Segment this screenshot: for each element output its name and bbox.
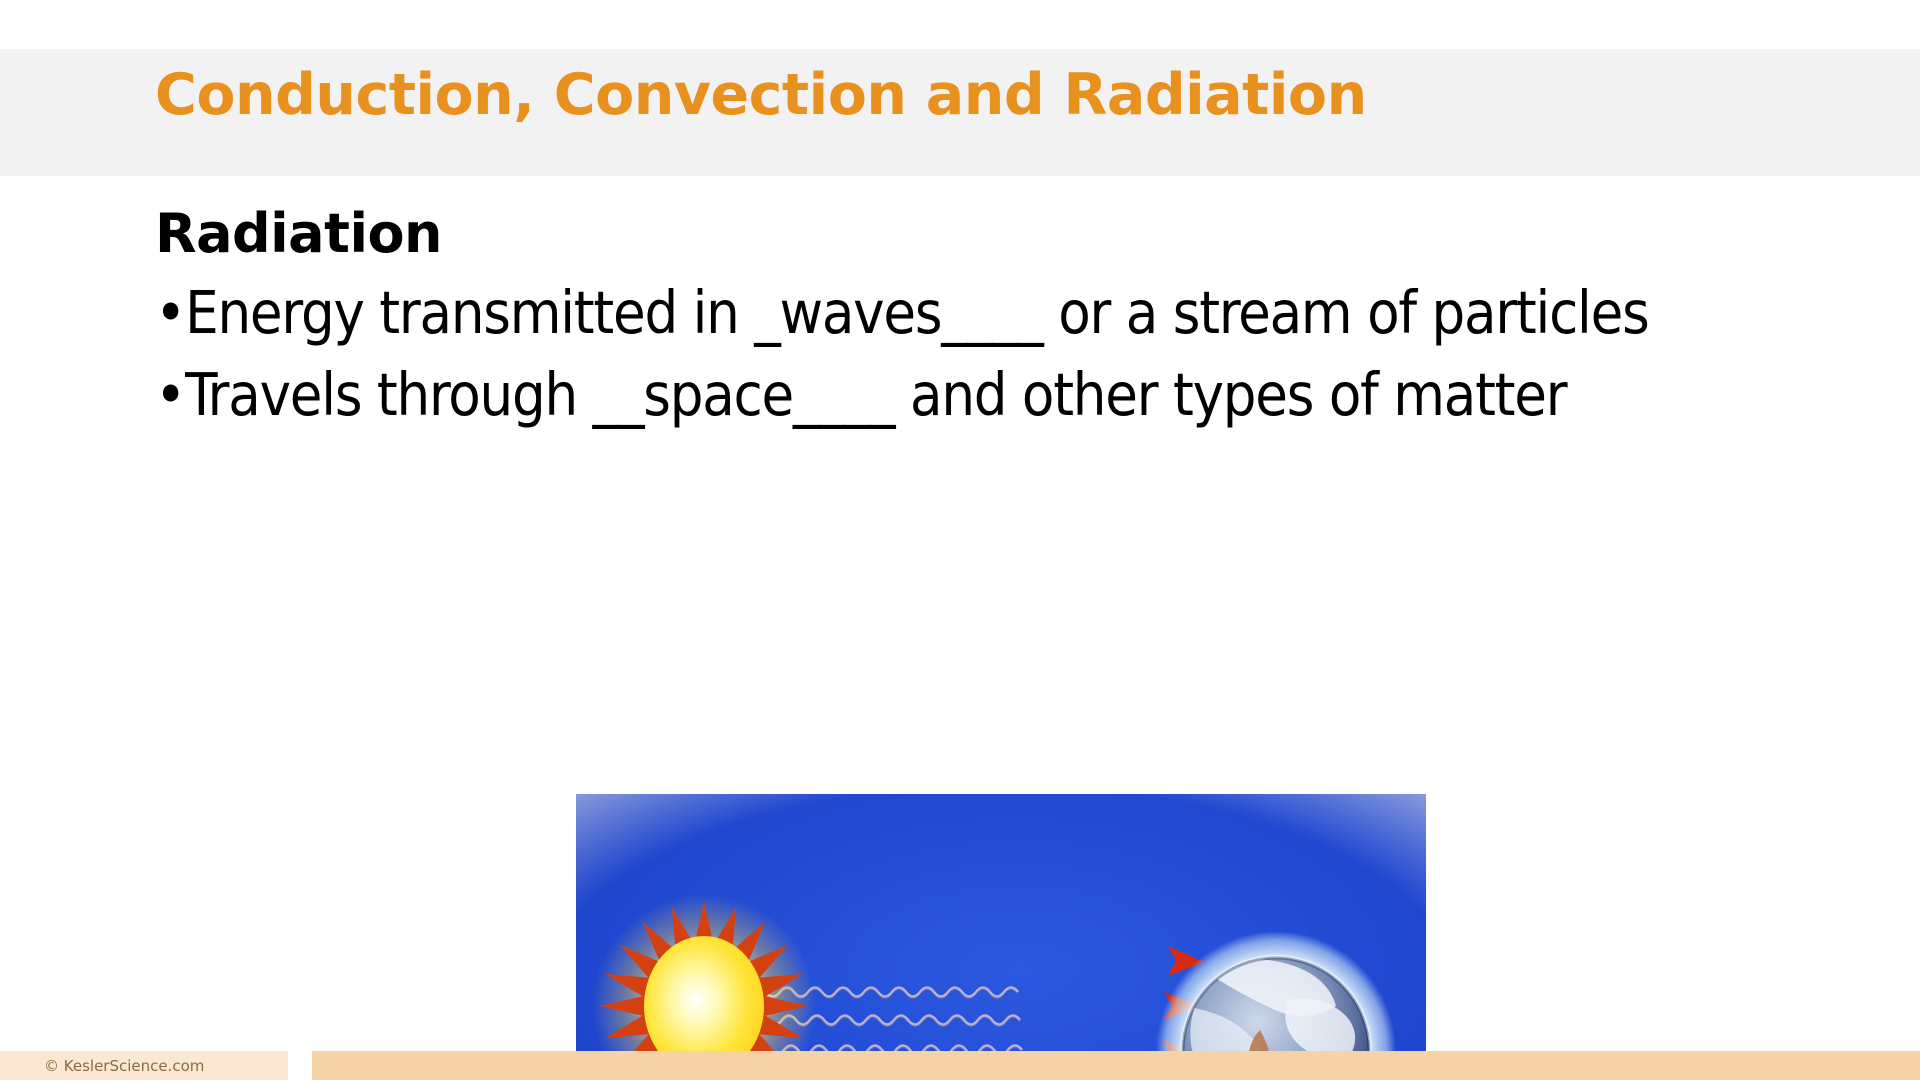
section-heading-radiation: Radiation [155, 202, 442, 265]
bullet-glyph: • [155, 360, 185, 429]
list-item-text: Travels through __space____ and other ty… [185, 360, 1566, 429]
radiation-diagram-image [576, 794, 1426, 1080]
sun-earth-illustration-svg [576, 794, 1426, 1080]
bullet-glyph: • [155, 278, 185, 347]
footer-accent-band [312, 1051, 1920, 1080]
list-item-text: Energy transmitted in _waves____ or a st… [185, 278, 1648, 347]
list-item: •Energy transmitted in _waves____ or a s… [155, 281, 1855, 345]
copyright-credit: © KeslerScience.com [44, 1057, 204, 1075]
slide-canvas: Conduction, Convection and Radiation Rad… [0, 0, 1920, 1080]
page-title: Conduction, Convection and Radiation [155, 66, 1367, 126]
slide-body: Radiation •Energy transmitted in _waves_… [0, 176, 1920, 1036]
list-item: •Travels through __space____ and other t… [155, 363, 1855, 427]
diagram-background [576, 794, 1426, 1080]
bullet-list: •Energy transmitted in _waves____ or a s… [155, 281, 1855, 444]
